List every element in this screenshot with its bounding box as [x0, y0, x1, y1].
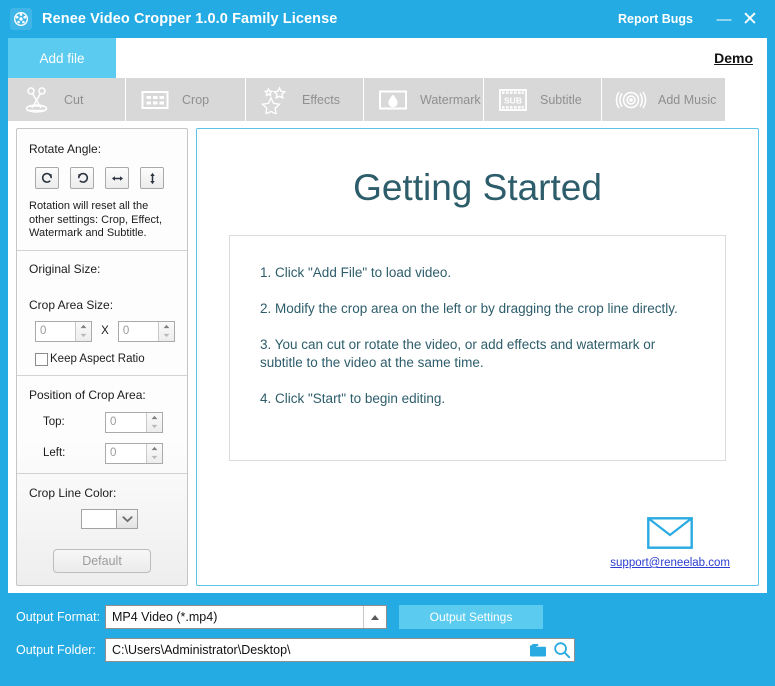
left-value: 0 [106, 444, 146, 463]
chevron-down-icon[interactable] [117, 509, 138, 529]
crop-area-size-label: Crop Area Size: [29, 298, 175, 312]
up-arrow-icon[interactable] [363, 606, 386, 628]
water-drop-icon [376, 85, 410, 115]
tab-add-music[interactable]: Add Music [602, 78, 725, 121]
left-position-row: Left: 0 [29, 443, 175, 464]
getting-started-panel: Getting Started 1. Click "Add File" to l… [196, 128, 759, 586]
tab-bar: Cut Crop [8, 78, 767, 121]
rotate-left-icon[interactable] [70, 167, 94, 189]
size-separator: X [101, 325, 109, 337]
crop-width-stepper[interactable]: 0 [35, 321, 92, 342]
keep-aspect-ratio-label: Keep Aspect Ratio [50, 353, 145, 365]
position-of-crop-area-label: Position of Crop Area: [29, 388, 175, 402]
original-size-label: Original Size: [29, 262, 175, 276]
step-item: 2. Modify the crop area on the left or b… [260, 300, 695, 318]
left-stepper[interactable]: 0 [105, 443, 163, 464]
top-label: Top: [43, 416, 105, 428]
add-file-bar: Add file Demo [8, 38, 767, 78]
tab-subtitle-label: Subtitle [540, 93, 582, 107]
crop-height-stepper[interactable]: 0 [118, 321, 175, 342]
crop-height-value: 0 [119, 322, 158, 341]
top-down-icon[interactable] [147, 422, 162, 432]
add-file-button[interactable]: Add file [8, 38, 116, 78]
scissors-icon [20, 85, 54, 115]
left-label: Left: [43, 447, 105, 459]
crop-width-down-icon[interactable] [76, 331, 91, 341]
output-format-value: MP4 Video (*.mp4) [106, 610, 363, 624]
tab-cut[interactable]: Cut [8, 78, 126, 121]
crop-width-value: 0 [36, 322, 75, 341]
rotate-right-icon[interactable] [35, 167, 59, 189]
top-value: 0 [106, 413, 146, 432]
crop-line-color-swatch[interactable] [81, 509, 117, 529]
tab-cut-label: Cut [64, 93, 83, 107]
page-title: Getting Started [197, 167, 758, 209]
envelope-icon [647, 517, 693, 554]
output-format-row: Output Format: MP4 Video (*.mp4) Output … [16, 605, 543, 629]
tab-effects[interactable]: Effects [246, 78, 364, 121]
output-folder-row: Output Folder: C:\Users\Administrator\De… [16, 638, 575, 662]
output-format-select[interactable]: MP4 Video (*.mp4) [105, 605, 387, 629]
left-down-icon[interactable] [147, 453, 162, 463]
divider [17, 250, 187, 251]
tab-crop[interactable]: Crop [126, 78, 246, 121]
titlebar-controls: Report Bugs — ✕ [618, 0, 775, 38]
output-folder-value: C:\Users\Administrator\Desktop\ [106, 643, 526, 657]
tab-add-music-label: Add Music [658, 93, 716, 107]
crop-size-row: 0 X 0 [29, 321, 175, 342]
tab-crop-label: Crop [182, 93, 209, 107]
speaker-icon [614, 85, 648, 115]
rotate-note: Rotation will reset all the other settin… [29, 200, 175, 241]
close-button[interactable]: ✕ [737, 6, 763, 32]
top-up-icon[interactable] [147, 413, 162, 423]
window-title: Renee Video Cropper 1.0.0 Family License [42, 11, 337, 27]
crop-height-up-icon[interactable] [159, 322, 174, 332]
output-folder-label: Output Folder: [16, 643, 105, 657]
crop-frame-icon [138, 85, 172, 115]
support-block: support@reneelab.com [610, 517, 730, 569]
flip-horizontal-icon[interactable] [105, 167, 129, 189]
crop-settings-panel: Rotate Angle: [16, 128, 188, 586]
tab-watermark[interactable]: Watermark [364, 78, 484, 121]
left-up-icon[interactable] [147, 444, 162, 454]
rotate-buttons-row [29, 167, 175, 189]
top-position-row: Top: 0 [29, 412, 175, 433]
steps-box: 1. Click "Add File" to load video. 2. Mo… [229, 235, 726, 461]
search-icon[interactable] [550, 641, 574, 659]
report-bugs-link[interactable]: Report Bugs [618, 12, 693, 26]
step-item: 4. Click "Start" to begin editing. [260, 390, 695, 408]
keep-aspect-ratio-row[interactable]: Keep Aspect Ratio [29, 353, 175, 366]
output-format-label: Output Format: [16, 610, 105, 624]
app-window: Renee Video Cropper 1.0.0 Family License… [0, 0, 775, 686]
step-item: 3. You can cut or rotate the video, or a… [260, 336, 695, 372]
sub-filmstrip-icon: SUB [496, 85, 530, 115]
top-stepper-buttons[interactable] [146, 413, 162, 432]
bottom-bar: Output Format: MP4 Video (*.mp4) Output … [0, 593, 775, 686]
body-area: Rotate Angle: [8, 121, 767, 593]
title-bar: Renee Video Cropper 1.0.0 Family License… [0, 0, 775, 38]
output-settings-button[interactable]: Output Settings [399, 605, 543, 629]
demo-link[interactable]: Demo [714, 50, 753, 66]
keep-aspect-ratio-checkbox[interactable] [35, 353, 48, 366]
crop-line-color-label: Crop Line Color: [29, 486, 175, 500]
rotate-angle-label: Rotate Angle: [29, 129, 175, 156]
crop-line-color-picker[interactable] [29, 509, 175, 529]
divider [17, 473, 187, 474]
output-folder-input[interactable]: C:\Users\Administrator\Desktop\ [105, 638, 575, 662]
tab-effects-label: Effects [302, 93, 340, 107]
divider [17, 375, 187, 376]
folder-icon[interactable] [526, 643, 550, 658]
crop-width-up-icon[interactable] [76, 322, 91, 332]
tab-watermark-label: Watermark [420, 93, 481, 107]
left-stepper-buttons[interactable] [146, 444, 162, 463]
film-reel-icon [10, 8, 32, 30]
top-stepper[interactable]: 0 [105, 412, 163, 433]
crop-width-stepper-buttons[interactable] [75, 322, 91, 341]
step-item: 1. Click "Add File" to load video. [260, 264, 695, 282]
support-email-link[interactable]: support@reneelab.com [610, 557, 730, 569]
tab-subtitle[interactable]: SUB Subtitle [484, 78, 602, 121]
svg-text:SUB: SUB [504, 95, 522, 105]
crop-height-down-icon[interactable] [159, 331, 174, 341]
flip-vertical-icon[interactable] [140, 167, 164, 189]
crop-height-stepper-buttons[interactable] [158, 322, 174, 341]
stars-icon [258, 85, 292, 115]
minimize-button[interactable]: — [711, 6, 737, 32]
default-button[interactable]: Default [53, 549, 151, 573]
